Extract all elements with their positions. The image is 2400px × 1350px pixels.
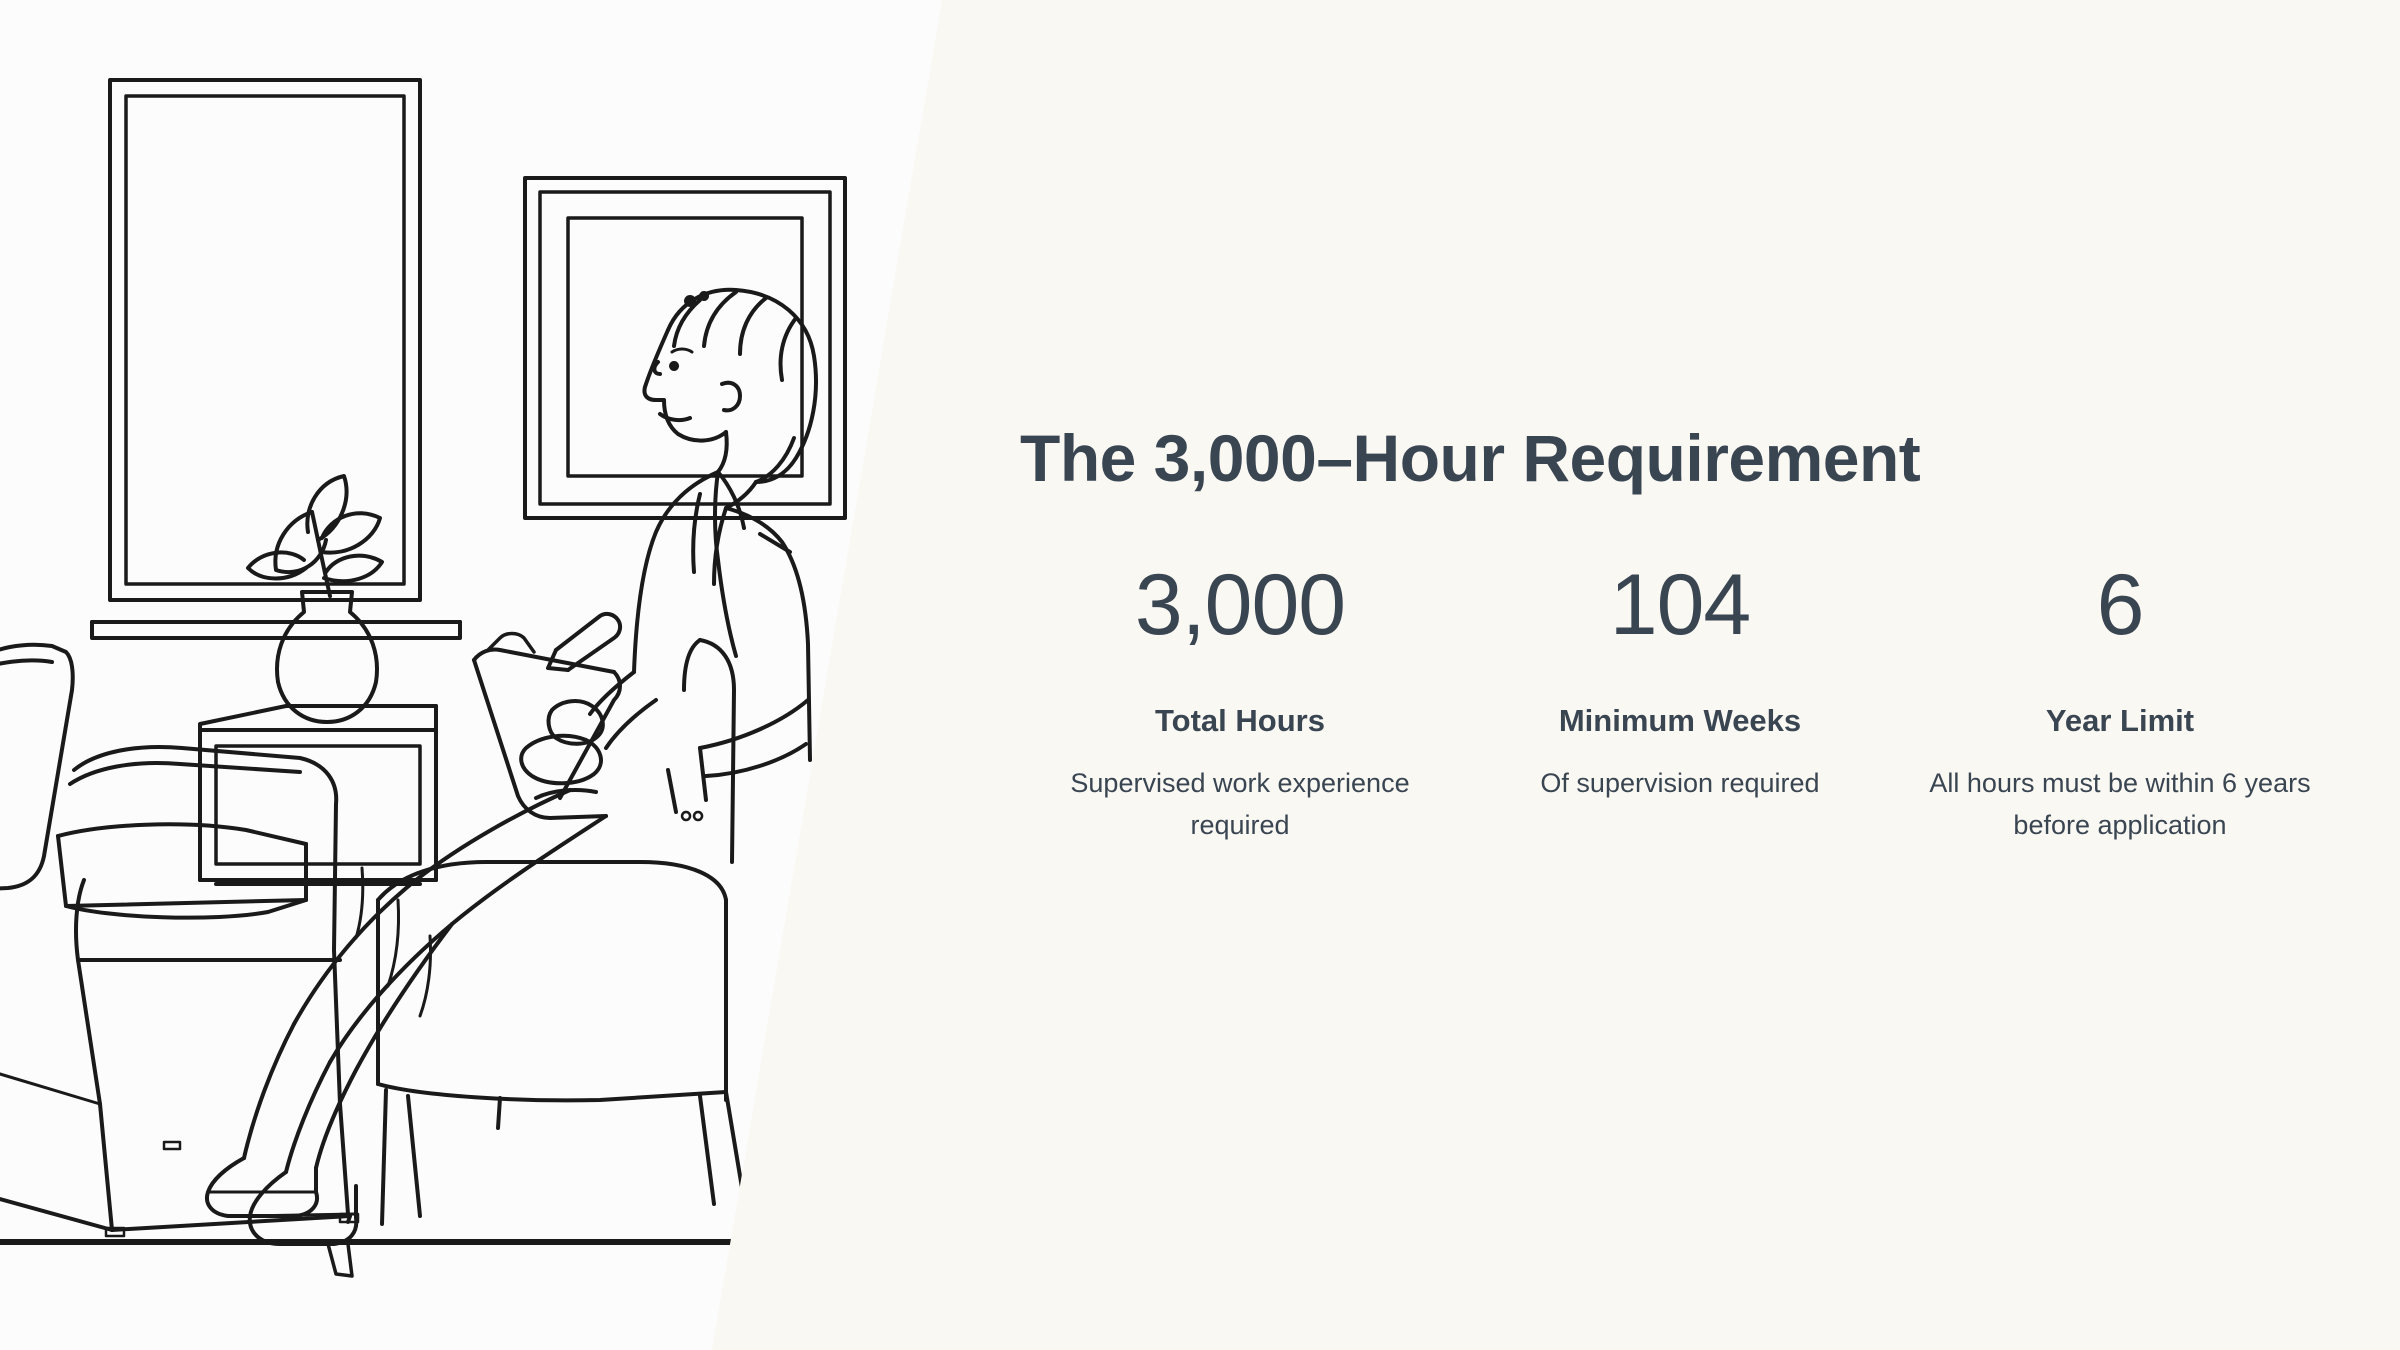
armchair-icon bbox=[0, 645, 358, 1236]
page-title: The 3,000–Hour Requirement bbox=[1020, 422, 2340, 495]
stat-card-year-limit: 6 Year Limit All hours must be within 6 … bbox=[1900, 560, 2340, 847]
stat-description: Of supervision required bbox=[1540, 763, 1819, 805]
stat-value: 104 bbox=[1610, 560, 1751, 650]
stat-card-minimum-weeks: 104 Minimum Weeks Of supervision require… bbox=[1460, 560, 1900, 805]
stat-description: Supervised work experience required bbox=[1040, 763, 1440, 847]
stat-card-total-hours: 3,000 Total Hours Supervised work experi… bbox=[1020, 560, 1460, 847]
stat-label: Minimum Weeks bbox=[1559, 702, 1801, 739]
person-figure-icon bbox=[521, 290, 816, 820]
stat-value: 3,000 bbox=[1135, 560, 1345, 650]
slide: The 3,000–Hour Requirement 3,000 Total H… bbox=[0, 0, 2400, 1350]
content-column: The 3,000–Hour Requirement 3,000 Total H… bbox=[1020, 0, 2340, 1350]
stat-label: Year Limit bbox=[2046, 702, 2194, 739]
stat-value: 6 bbox=[2097, 560, 2144, 650]
stats-row: 3,000 Total Hours Supervised work experi… bbox=[1020, 560, 2340, 847]
credenza-icon bbox=[200, 706, 436, 884]
stat-description: All hours must be within 6 years before … bbox=[1920, 763, 2320, 847]
stat-label: Total Hours bbox=[1155, 702, 1325, 739]
lounge-chair-icon bbox=[378, 640, 744, 1224]
